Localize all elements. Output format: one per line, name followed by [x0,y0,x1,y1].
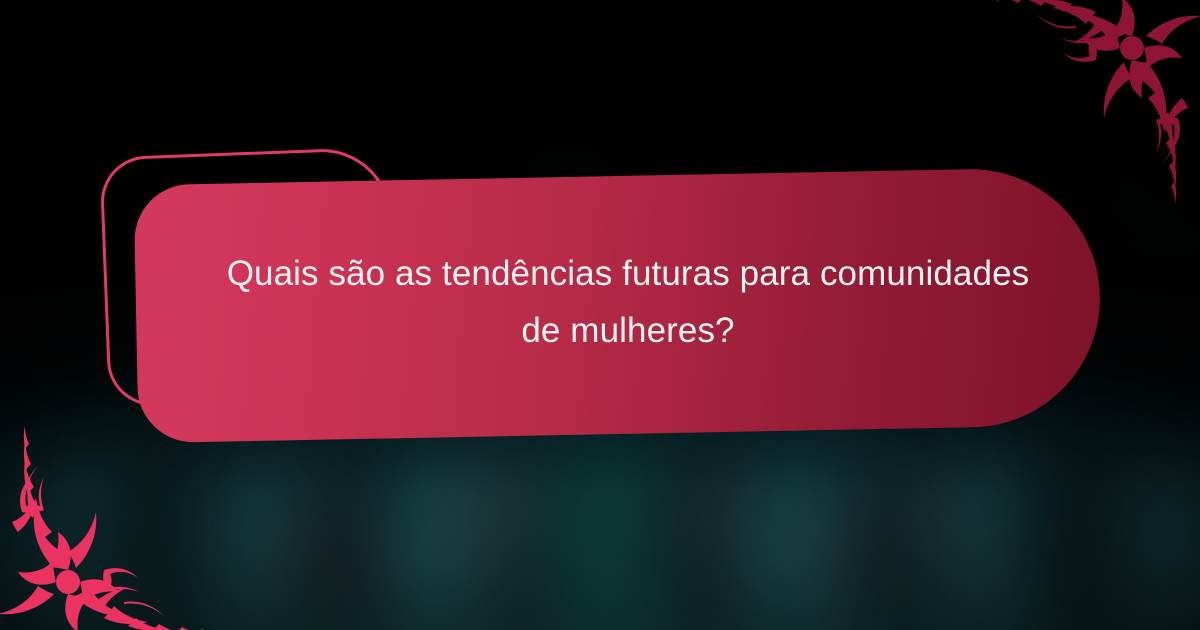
headline-card-stack: Quais são as tendências futuras para com… [0,0,1200,630]
headline-text: Quais são as tendências futuras para com… [188,246,1048,359]
banner-canvas: Quais são as tendências futuras para com… [0,0,1200,630]
headline-card: Quais são as tendências futuras para com… [134,167,1103,443]
